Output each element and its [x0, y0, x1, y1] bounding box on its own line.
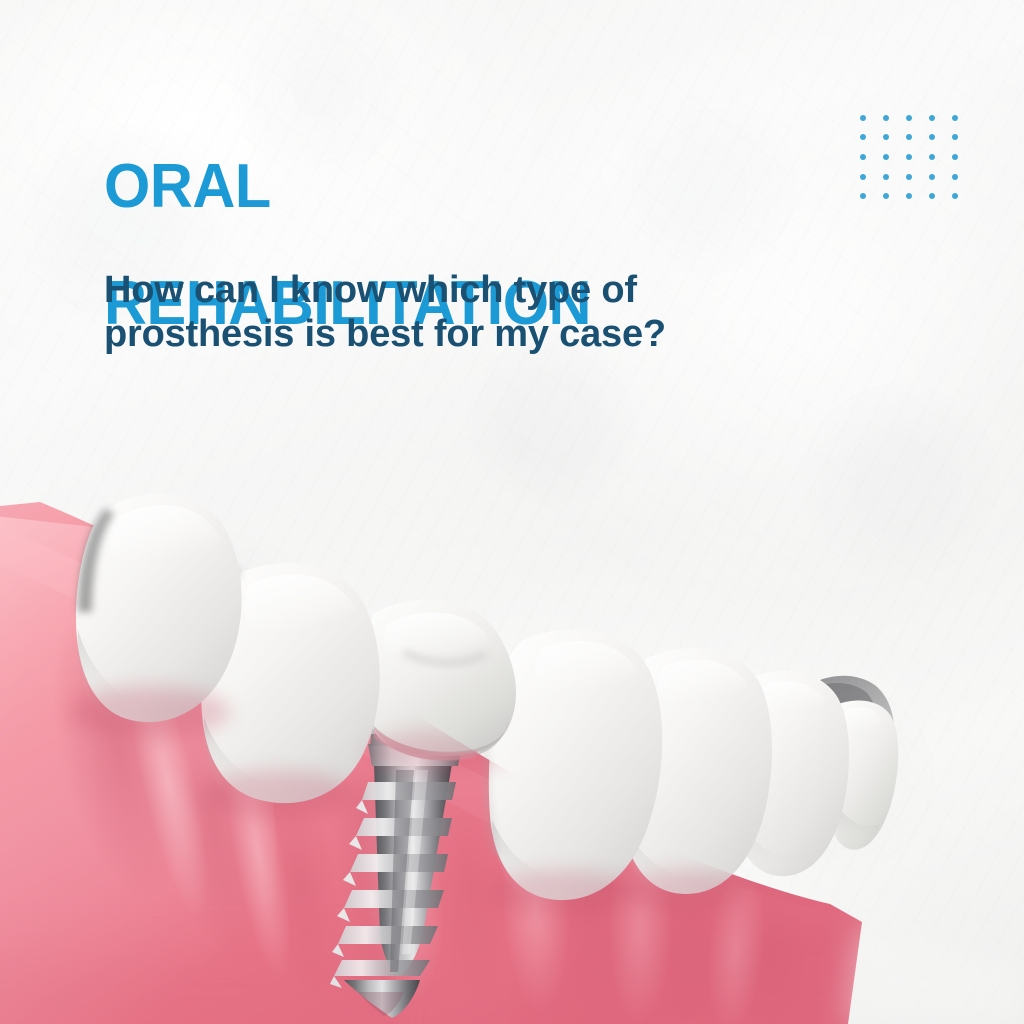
grid-dot-icon	[860, 174, 866, 180]
grid-dot-icon	[883, 154, 889, 160]
grid-dot-icon	[906, 134, 912, 140]
subtitle-question: How can I know which type of prosthesis …	[104, 268, 744, 356]
grid-dot-icon	[929, 134, 935, 140]
grid-dot-icon	[952, 134, 958, 140]
grid-dot-icon	[883, 174, 889, 180]
title-line-1: ORAL	[104, 158, 591, 216]
grid-dot-icon	[883, 115, 889, 121]
grid-dot-icon	[883, 193, 889, 199]
dental-implant-illustration	[0, 452, 1024, 1024]
grid-dot-icon	[952, 115, 958, 121]
grid-dot-icon	[860, 193, 866, 199]
grid-dot-icon	[952, 154, 958, 160]
dot-grid-decoration	[851, 108, 967, 206]
grid-dot-icon	[929, 154, 935, 160]
grid-dot-icon	[906, 154, 912, 160]
grid-dot-icon	[952, 174, 958, 180]
poster-canvas: ORAL REHABILITATION How can I know which…	[0, 0, 1024, 1024]
grid-dot-icon	[929, 115, 935, 121]
grid-dot-icon	[860, 134, 866, 140]
grid-dot-icon	[952, 193, 958, 199]
grid-dot-icon	[906, 174, 912, 180]
grid-dot-icon	[906, 193, 912, 199]
grid-dot-icon	[929, 174, 935, 180]
grid-dot-icon	[860, 115, 866, 121]
grid-dot-icon	[883, 134, 889, 140]
grid-dot-icon	[906, 115, 912, 121]
grid-dot-icon	[929, 193, 935, 199]
grid-dot-icon	[860, 154, 866, 160]
